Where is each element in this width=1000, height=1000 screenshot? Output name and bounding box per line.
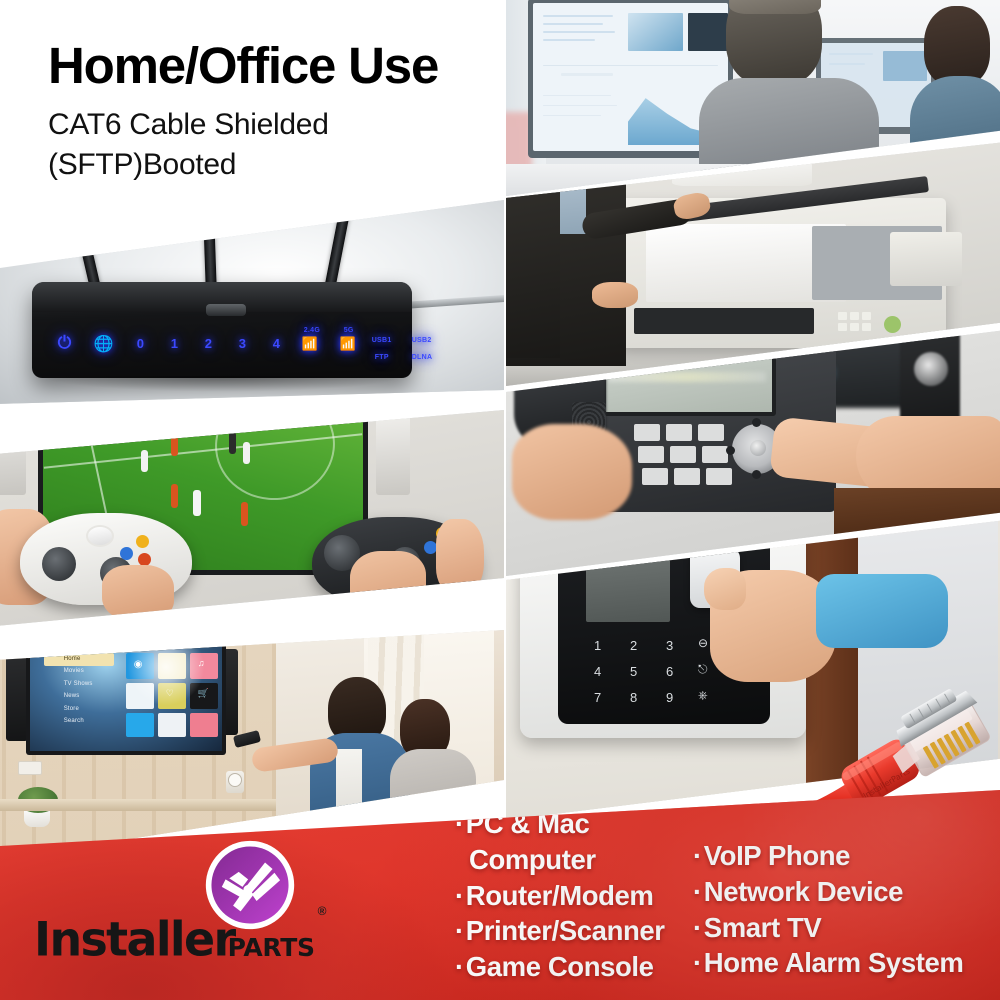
router-port-1: 1 (171, 336, 178, 351)
feature-label-continued: Computer (455, 842, 665, 878)
tv-menu-store: Store (64, 706, 93, 712)
bullet-dot: · (693, 912, 702, 943)
brand-name-secondary: PARTS (228, 935, 315, 960)
alarm-up-arrow-circle-icon: ⎋ (698, 662, 708, 677)
router-port-2: 2 (205, 336, 212, 351)
alarm-down-arrow-circle-icon: ⎈ (698, 688, 708, 703)
bullet-dot: · (693, 840, 702, 871)
feature-label: Network Device (704, 876, 903, 907)
router-usb2-label: USB2 (412, 337, 432, 344)
feature-label: Printer/Scanner (466, 915, 665, 946)
brand-logo: Installer PARTS ® (28, 840, 328, 970)
bullet-dot: · (455, 915, 464, 946)
alarm-key-6: 6 (666, 664, 673, 679)
feature-item-voip-phone: ·VoIP Phone (693, 838, 963, 874)
alarm-minus-circle-icon: ⊖ (698, 636, 708, 650)
alarm-sleeve (816, 574, 948, 648)
router-wifi-24-icon: 📶 (302, 336, 318, 352)
router-wifi-24-label: 2.4G (304, 327, 320, 334)
feature-item-printer-scanner: ·Printer/Scanner (455, 913, 665, 949)
subtitle-line-1: CAT6 Cable Shielded (48, 105, 329, 145)
router-internet-icon: 🌐 (94, 334, 114, 354)
feature-label: Home Alarm System (704, 947, 964, 978)
alarm-key-1: 1 (594, 638, 601, 653)
tv-clock: 2:41 pm (157, 640, 173, 645)
tv-menu-home: Home (64, 656, 93, 662)
bullet-dot: · (693, 947, 702, 978)
brand-wordmark: Installer PARTS ® (34, 918, 327, 962)
feature-label: VoIP Phone (704, 840, 850, 871)
page-subtitle: CAT6 Cable Shielded (SFTP)Booted (48, 105, 329, 185)
feature-item-network-device: ·Network Device (693, 874, 963, 910)
feature-item-home-alarm-system: ·Home Alarm System (693, 945, 963, 981)
router-usb1-label: USB1 (372, 337, 392, 344)
registered-trademark-symbol: ® (318, 904, 327, 918)
alarm-key-9: 9 (666, 690, 673, 705)
tv-menu-tvshows: TV Shows (64, 681, 93, 687)
bullet-dot: · (455, 951, 464, 982)
router-dlna-label: DLNA (412, 354, 433, 361)
router-port-3: 3 (239, 336, 246, 351)
router-port-0: 0 (137, 336, 144, 351)
feature-label: Game Console (466, 951, 654, 982)
feature-item-smart-tv: ·Smart TV (693, 910, 963, 946)
feature-item-game-console: ·Game Console (455, 949, 665, 985)
page-title: Home/Office Use (48, 36, 438, 95)
router-wifi-5-label: 5G (344, 327, 354, 334)
alarm-key-2: 2 (630, 638, 637, 653)
tv-menu-movies: Movies (64, 668, 93, 674)
bullet-dot: · (693, 876, 702, 907)
brand-name-primary: Installer (34, 916, 235, 963)
feature-label: Smart TV (704, 912, 822, 943)
alarm-key-3: 3 (666, 638, 673, 653)
feature-list-right: ·VoIP Phone ·Network Device ·Smart TV ·H… (693, 838, 963, 981)
feature-label: Router/Modem (466, 880, 654, 911)
bullet-dot: · (455, 808, 464, 839)
subtitle-line-2: (SFTP)Booted (48, 145, 329, 185)
router-port-4: 4 (273, 336, 280, 351)
tv-options-label: Options (196, 640, 212, 645)
product-infographic: ⏻ 🌐 0 1 2 3 4 2.4G 📶 5G 📶 USB1 USB2 FTP … (0, 0, 1000, 1000)
router-ftp-label: FTP (375, 354, 389, 361)
alarm-key-4: 4 (594, 664, 601, 679)
feature-item-pc-mac: ·PC & Mac Computer (455, 806, 665, 878)
alarm-key-7: 7 (594, 690, 601, 705)
alarm-key-5: 5 (630, 664, 637, 679)
tv-menu-news: News (64, 693, 93, 699)
alarm-key-8: 8 (630, 690, 637, 705)
feature-item-router-modem: ·Router/Modem (455, 878, 665, 914)
feature-list-left: ·PC & Mac Computer ·Router/Modem ·Printe… (455, 806, 665, 985)
tv-menu-search: Search (64, 718, 93, 724)
bullet-dot: · (455, 880, 464, 911)
router-power-icon: ⏻ (58, 333, 71, 353)
router-wifi-5-icon: 📶 (340, 336, 356, 352)
photo-panel-game (0, 410, 504, 626)
